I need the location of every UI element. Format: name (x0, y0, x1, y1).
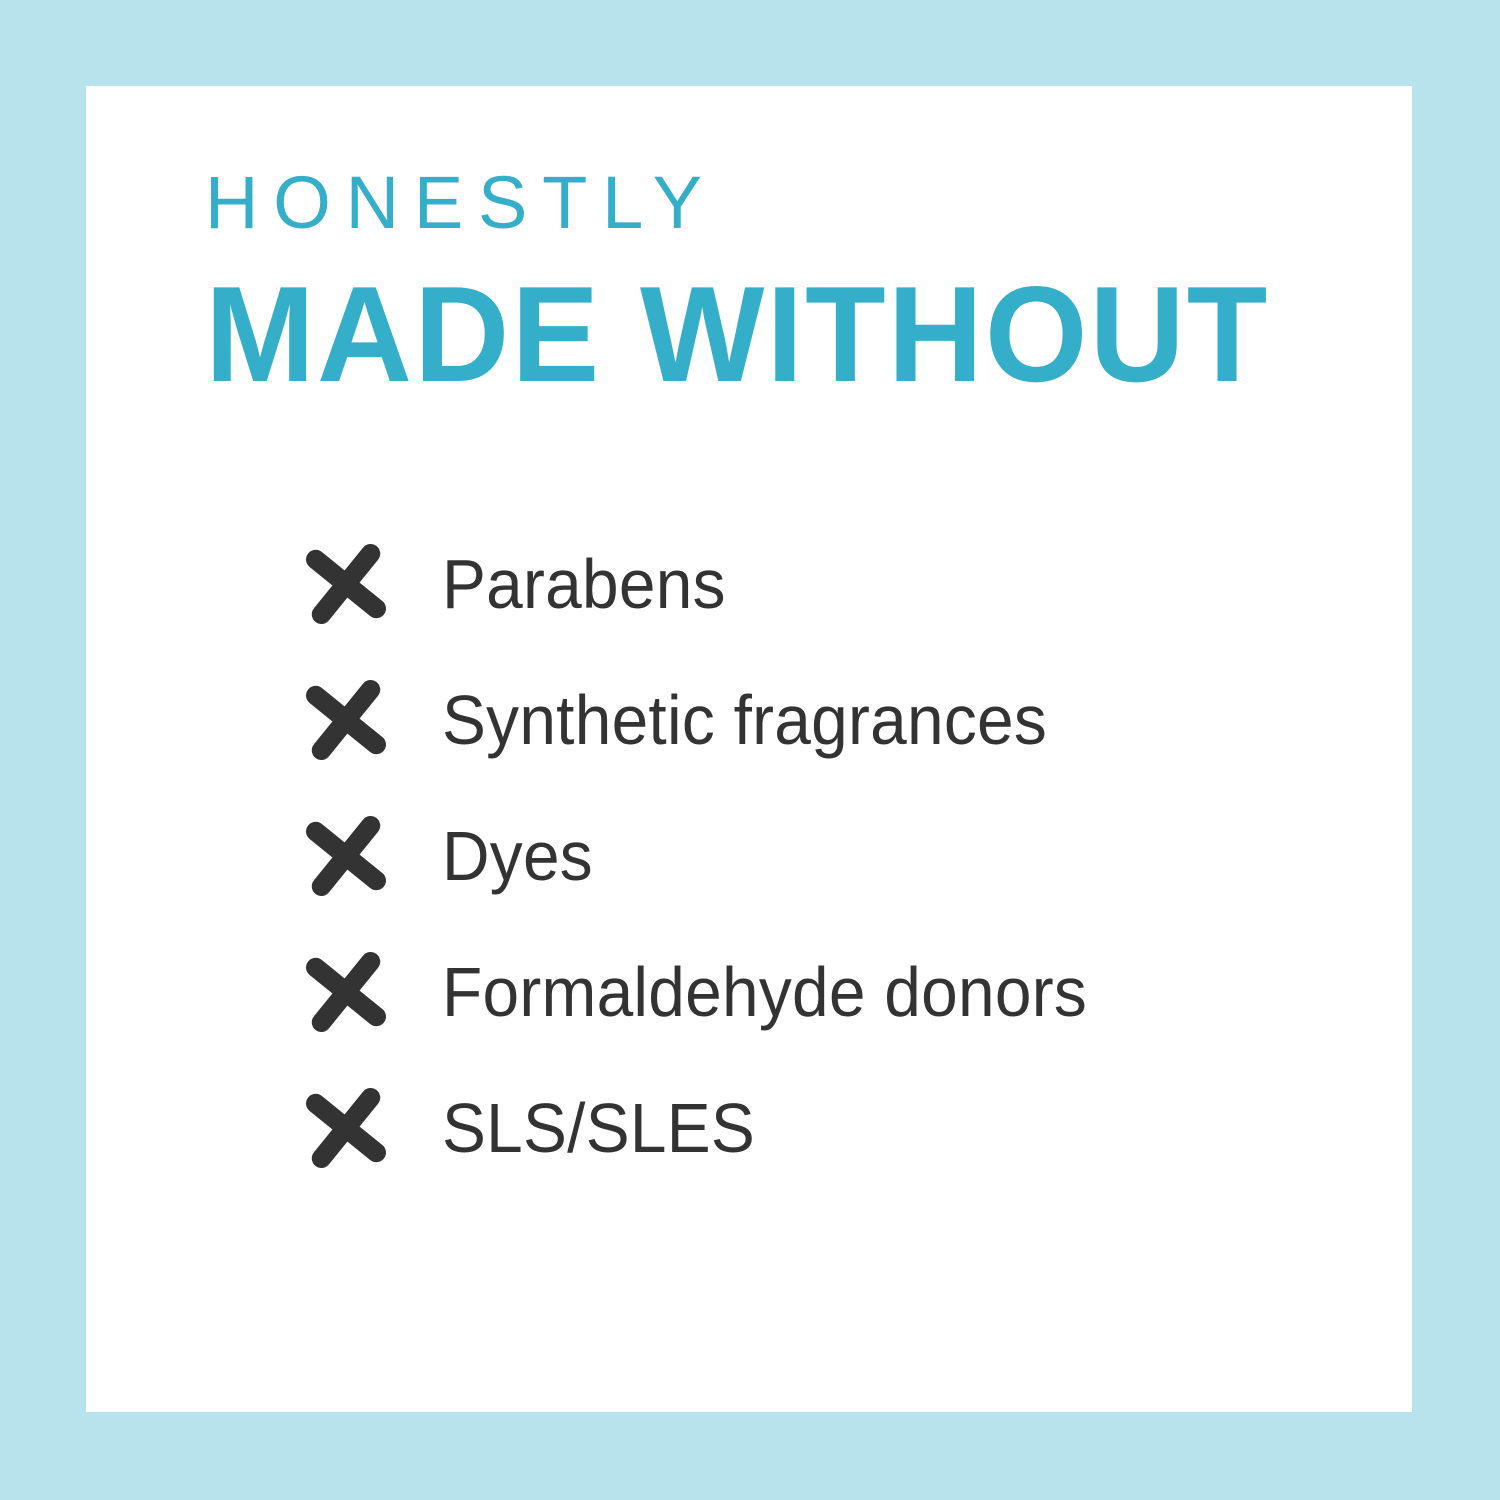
poster-frame: HONESTLY MADE WITHOUT Parabens (0, 0, 1500, 1500)
list-item: SLS/SLES (300, 1060, 1360, 1196)
eyebrow-text: HONESTLY (205, 164, 1385, 242)
list-item: Formaldehyde donors (300, 924, 1360, 1060)
list-item-label: Formaldehyde donors (442, 957, 1087, 1027)
headline-text: MADE WITHOUT (205, 266, 1350, 402)
list-item-label: Parabens (442, 549, 726, 619)
list-item-label: Synthetic fragrances (442, 685, 1047, 755)
heading-block: HONESTLY MADE WITHOUT (205, 164, 1385, 402)
list-item: Synthetic fragrances (300, 652, 1360, 788)
x-cross-icon (300, 1082, 392, 1174)
list-item: Dyes (300, 788, 1360, 924)
x-cross-icon (300, 538, 392, 630)
list-item-label: SLS/SLES (442, 1093, 755, 1163)
list-item-label: Dyes (442, 821, 593, 891)
list-item: Parabens (300, 516, 1360, 652)
x-cross-icon (300, 946, 392, 1038)
x-cross-icon (300, 810, 392, 902)
white-panel: HONESTLY MADE WITHOUT Parabens (86, 86, 1412, 1412)
x-cross-icon (300, 674, 392, 766)
exclusion-list: Parabens Synthetic fragrances (300, 516, 1360, 1196)
